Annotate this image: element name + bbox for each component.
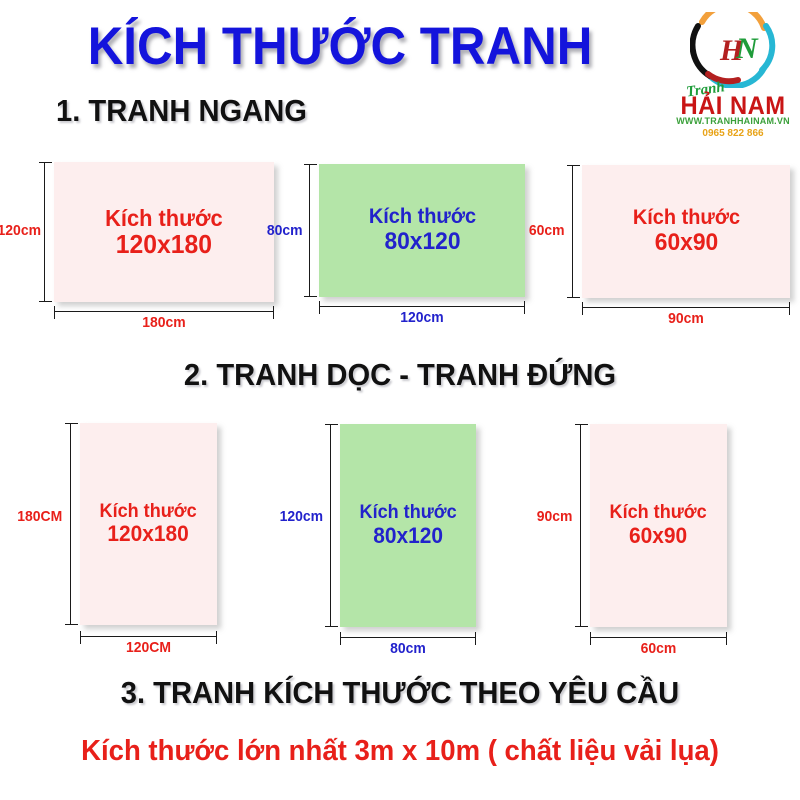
canvas-60x90-horizontal: Kích thước 60x90 [582, 165, 790, 298]
svg-text:N: N [735, 32, 759, 65]
canvas-label-line2: 60x90 [632, 230, 739, 256]
dimension-label-height-6: 90cm [530, 508, 573, 525]
canvas-80x120-vertical: Kích thước 80x120 [340, 424, 476, 627]
dimension-label-width-1: 180cm [62, 314, 267, 331]
dimension-line-width-4 [80, 636, 217, 637]
canvas-label-line2: 120x180 [100, 522, 197, 546]
canvas-label-line1: Kích thước [368, 206, 475, 229]
canvas-label-line1: Kích thước [632, 207, 739, 230]
dimension-label-width-3: 90cm [589, 310, 782, 327]
dimension-line-height-1 [44, 162, 45, 302]
canvas-label-line1: Kích thước [359, 503, 456, 524]
canvas-label-line1: Kích thước [610, 503, 707, 524]
canvas-label-line2: 120x180 [105, 230, 223, 258]
section-heading-custom: 3. TRANH KÍCH THƯỚC THEO YÊU CẦU [24, 675, 776, 711]
canvas-label-line2: 60x90 [610, 524, 707, 548]
dimension-line-width-2 [319, 306, 525, 307]
canvas-label-line2: 80x120 [359, 524, 456, 548]
dimension-label-width-2: 120cm [326, 309, 518, 326]
dimension-label-width-5: 80cm [343, 640, 473, 657]
dimension-label-height-4: 180CM [16, 508, 63, 525]
canvas-120x180-horizontal: Kích thước 120x180 [54, 162, 274, 302]
canvas-label-line1: Kích thước [100, 502, 197, 523]
dimension-line-height-6 [580, 424, 581, 627]
canvas-120x180-vertical: Kích thước 120x180 [80, 423, 217, 625]
dimension-label-height-5: 120cm [280, 508, 323, 525]
canvas-label-line2: 80x120 [368, 229, 475, 255]
dimension-line-height-2 [309, 164, 310, 297]
dimension-line-height-4 [70, 423, 71, 625]
canvas-label-line1: Kích thước [105, 206, 223, 231]
dimension-label-width-4: 120CM [83, 639, 214, 656]
dimension-line-width-1 [54, 311, 274, 312]
section-heading-horizontal: 1. TRANH NGANG [56, 93, 307, 129]
dimension-line-width-6 [590, 637, 727, 638]
dimension-label-height-2: 80cm [263, 222, 302, 239]
canvas-80x120-horizontal: Kích thước 80x120 [319, 164, 525, 297]
page-title: KÍCH THƯỚC TRANH [24, 16, 656, 77]
dimension-line-height-5 [330, 424, 331, 627]
logo-phone: 0965 822 866 [672, 128, 794, 139]
dimension-label-height-3: 60cm [525, 222, 564, 239]
canvas-60x90-vertical: Kích thước 60x90 [590, 424, 727, 627]
brand-logo: H N Tranh HẢI NAM WWW.TRANHHAINAM.VN 096… [672, 12, 794, 142]
logo-website: WWW.TRANHHAINAM.VN [672, 116, 794, 126]
dimension-line-height-3 [572, 165, 573, 298]
section-heading-vertical: 2. TRANH DỌC - TRANH ĐỨNG [24, 357, 776, 393]
dimension-line-width-5 [340, 637, 476, 638]
footer-note: Kích thước lớn nhất 3m x 10m ( chất liệu… [20, 735, 780, 768]
dimension-label-height-1: 120cm [0, 222, 38, 239]
dimension-label-width-6: 60cm [593, 640, 724, 657]
dimension-line-width-3 [582, 307, 790, 308]
